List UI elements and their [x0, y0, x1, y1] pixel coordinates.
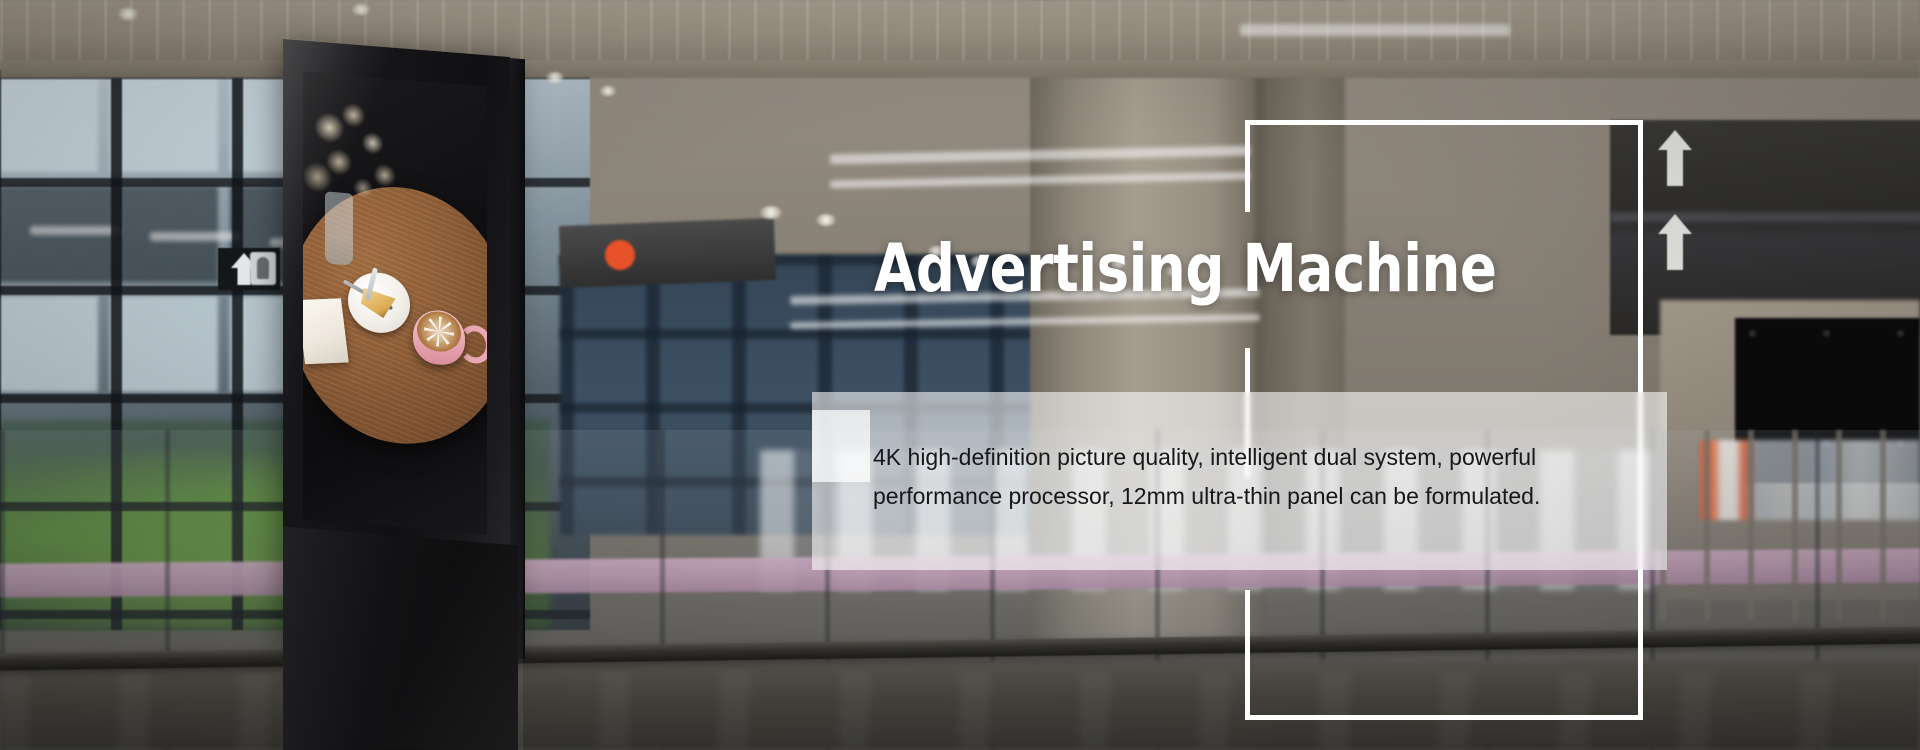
copy-panel-accent-tab [812, 410, 870, 482]
digital-signage-kiosk [283, 48, 558, 750]
kiosk-screen-content [303, 72, 487, 535]
restroom-pictogram-icon [250, 252, 276, 285]
strip-light [1240, 24, 1510, 36]
arrow-up-icon [1655, 128, 1695, 190]
ceiling-downlight [816, 214, 836, 226]
kiosk-base [283, 527, 518, 750]
dried-flowers [303, 90, 423, 220]
product-description-line-1: 4K high-definition picture quality, inte… [873, 438, 1603, 477]
advertising-machine-banner: Advertising Machine 4K high-definition p… [0, 0, 1920, 750]
ceiling-downlight [600, 86, 616, 96]
hanging-sign [559, 218, 776, 288]
product-description-line-2: performance processor, 12mm ultra-thin p… [873, 477, 1603, 516]
ceiling-downlight [118, 8, 138, 20]
railing-bars-right [1660, 430, 1920, 620]
kiosk-screen[interactable] [303, 72, 487, 535]
sign-badge-icon [605, 240, 635, 270]
arrow-up-icon [1655, 212, 1695, 274]
ceiling-downlight [352, 4, 370, 15]
product-description: 4K high-definition picture quality, inte… [873, 438, 1603, 516]
napkin [303, 298, 349, 364]
page-title: Advertising Machine [874, 236, 1497, 302]
glass-vase [325, 191, 353, 265]
ceiling-downlight [760, 206, 782, 219]
